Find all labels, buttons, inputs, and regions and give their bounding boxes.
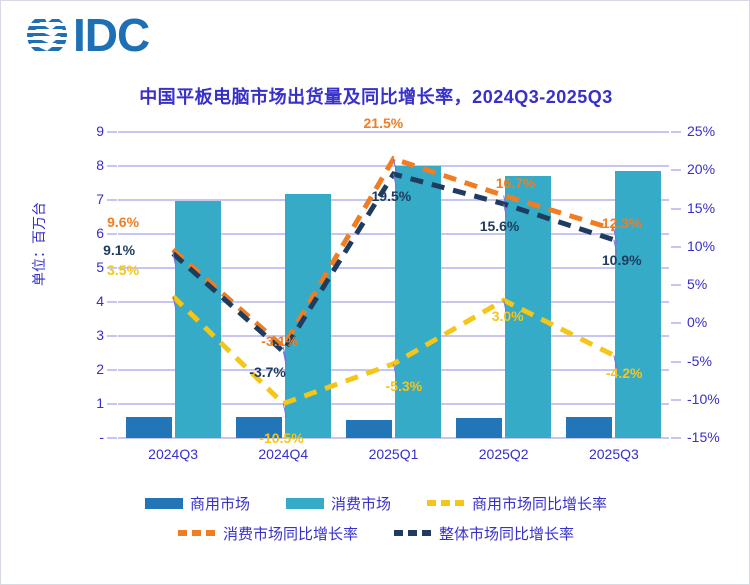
data-label-整体市场同比增长率-2024Q4: -3.7% xyxy=(249,364,286,380)
idc-globe-icon xyxy=(23,11,71,59)
y2-axis-tick xyxy=(671,208,681,210)
y-axis-tick xyxy=(107,199,117,201)
data-label-商用市场同比增长率-2025Q1: -5.3% xyxy=(386,378,423,394)
legend-label: 商用市场 xyxy=(190,493,250,514)
data-label-消费市场同比增长率-2025Q2: 16.7% xyxy=(496,175,536,191)
data-label-消费市场同比增长率-2024Q3: 9.6% xyxy=(107,214,139,230)
line-series-消费市场同比增长率 xyxy=(173,159,614,347)
x-axis-label-2025Q1: 2025Q1 xyxy=(339,446,449,462)
data-label-商用市场同比增长率-2025Q3: -4.2% xyxy=(606,365,643,381)
legend-item-消费市场同比增长率[interactable]: 消费市场同比增长率 xyxy=(178,523,358,544)
y-axis-tick xyxy=(107,403,117,405)
data-label-商用市场同比增长率-2024Q3: 3.5% xyxy=(107,262,139,278)
y-axis-tick xyxy=(107,233,117,235)
y-axis-tick-label: 6 xyxy=(74,225,104,241)
y-axis-tick xyxy=(107,369,117,371)
y2-axis-tick-label: -5% xyxy=(687,353,735,369)
legend-item-商用市场同比增长率[interactable]: 商用市场同比增长率 xyxy=(427,493,607,514)
data-label-整体市场同比增长率-2025Q3: 10.9% xyxy=(602,252,642,268)
data-label-商用市场同比增长率-2025Q2: 3.0% xyxy=(492,308,524,324)
legend-swatch-dash-icon xyxy=(427,500,465,506)
chart-frame: IDC 中国平板电脑市场出货量及同比增长率，2024Q3-2025Q3 单位：百… xyxy=(0,0,750,585)
legend-label: 消费市场 xyxy=(331,493,391,514)
y2-axis-tick xyxy=(671,246,681,248)
y-axis-tick-label: 2 xyxy=(74,361,104,377)
y2-axis-tick-label: 10% xyxy=(687,238,735,254)
legend-swatch-box-icon xyxy=(286,498,324,509)
y2-axis-tick xyxy=(671,437,681,439)
y-axis-tick-label: 7 xyxy=(74,191,104,207)
y2-axis-tick xyxy=(671,169,681,171)
y2-axis-tick-label: 15% xyxy=(687,200,735,216)
y-axis-tick-label: 5 xyxy=(74,259,104,275)
y2-axis-tick-label: 5% xyxy=(687,276,735,292)
legend-item-商用市场[interactable]: 商用市场 xyxy=(145,493,250,514)
y2-axis-tick xyxy=(671,131,681,133)
legend-label: 商用市场同比增长率 xyxy=(472,493,607,514)
y-axis-tick xyxy=(107,437,117,439)
legend-row-bottom: 消费市场同比增长率整体市场同比增长率 xyxy=(1,518,750,548)
y2-axis-tick-label: 25% xyxy=(687,123,735,139)
x-axis-label-2024Q4: 2024Q4 xyxy=(228,446,338,462)
y-axis-tick-label: 1 xyxy=(74,395,104,411)
label-leader-tick xyxy=(394,364,397,378)
y2-axis-tick xyxy=(671,399,681,401)
data-label-整体市场同比增长率-2025Q1: 19.5% xyxy=(372,188,412,204)
data-label-消费市场同比增长率-2024Q4: -3.1% xyxy=(261,333,298,349)
legend-item-整体市场同比增长率[interactable]: 整体市场同比增长率 xyxy=(394,523,574,544)
y-axis-tick-label: 9 xyxy=(74,123,104,139)
data-label-消费市场同比增长率-2025Q3: 12.3% xyxy=(602,215,642,231)
y2-axis-tick xyxy=(671,284,681,286)
y2-axis-tick-label: -10% xyxy=(687,391,735,407)
x-axis-label-2024Q3: 2024Q3 xyxy=(118,446,228,462)
y-axis-tick-label: 8 xyxy=(74,157,104,173)
y-axis-tick xyxy=(107,131,117,133)
y-axis-tick-label: 4 xyxy=(74,293,104,309)
legend-swatch-dash-icon xyxy=(394,530,432,536)
data-label-整体市场同比增长率-2025Q2: 15.6% xyxy=(480,218,520,234)
legend-label: 消费市场同比增长率 xyxy=(223,523,358,544)
data-label-消费市场同比增长率-2025Q1: 21.5% xyxy=(364,115,404,131)
y2-axis-tick-label: -15% xyxy=(687,429,735,445)
chart-title: 中国平板电脑市场出货量及同比增长率，2024Q3-2025Q3 xyxy=(1,83,750,109)
y-axis-tick xyxy=(107,165,117,167)
legend-label: 整体市场同比增长率 xyxy=(439,523,574,544)
y-axis-tick xyxy=(107,267,117,269)
legend-swatch-box-icon xyxy=(145,498,183,509)
y2-axis-tick-label: 20% xyxy=(687,161,735,177)
plot-area: 3.5%-10.5%-5.3%3.0%-4.2%9.6%-3.1%21.5%16… xyxy=(118,132,669,438)
x-axis-label-2025Q2: 2025Q2 xyxy=(449,446,559,462)
y2-axis-tick-label: 0% xyxy=(687,314,735,330)
data-label-整体市场同比增长率-2024Q3: 9.1% xyxy=(103,242,135,258)
idc-logo: IDC xyxy=(23,11,149,59)
idc-wordmark: IDC xyxy=(73,11,149,59)
y-axis-title: 单位：百万台 xyxy=(29,202,49,286)
x-axis-label-2025Q3: 2025Q3 xyxy=(559,446,669,462)
legend-row-top: 商用市场消费市场商用市场同比增长率 xyxy=(1,488,750,518)
y-axis-tick-label: - xyxy=(74,429,104,445)
y-axis-tick-label: 3 xyxy=(74,327,104,343)
chart-legend: 商用市场消费市场商用市场同比增长率 消费市场同比增长率整体市场同比增长率 xyxy=(1,488,750,548)
y-axis-tick xyxy=(107,301,117,303)
legend-swatch-dash-icon xyxy=(178,530,216,536)
legend-item-消费市场[interactable]: 消费市场 xyxy=(286,493,391,514)
y2-axis-tick xyxy=(671,361,681,363)
y-axis-tick xyxy=(107,335,117,337)
data-label-商用市场同比增长率-2024Q4: -10.5% xyxy=(259,430,303,446)
y2-axis-tick xyxy=(671,322,681,324)
